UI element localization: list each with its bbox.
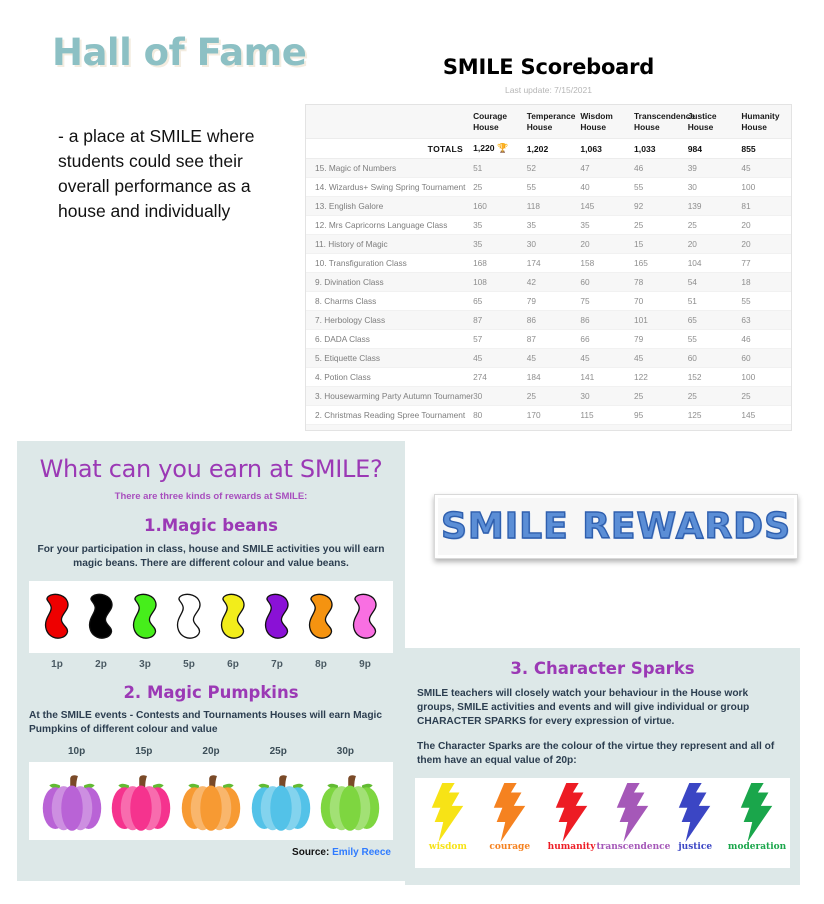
scoreboard-cell-value: 141 [580,368,634,387]
scoreboard-total-value: 1,202 [527,139,581,159]
scoreboard-cell-value: 81 [741,197,791,216]
scoreboard-cell-value: 35 [473,216,527,235]
scoreboard-total-value: 1,220 🏆 [473,139,527,159]
magic-pumpkins-heading: 2. Magic Pumpkins [17,683,405,702]
scoreboard-column-header: Temperance House [527,105,581,139]
character-spark-item: courage [481,782,539,852]
magic-beans-text: For your participation in class, house a… [31,543,391,571]
smile-rewards-banner: SMILE REWARDS [434,494,798,559]
table-row[interactable]: 1. Character Sparks020020400 [306,425,791,432]
rewards-panel: What can you earn at SMILE? There are th… [17,441,405,881]
magic-pumpkin-icon [251,770,311,832]
scoreboard-cell-value: 101 [634,311,688,330]
table-row[interactable]: 12. Mrs Capricorns Language Class3535352… [306,216,791,235]
scoreboard-total-value: 855 [741,139,791,159]
smile-rewards-banner-text: SMILE REWARDS [441,506,791,547]
scoreboard-cell-value: 80 [473,406,527,425]
character-sparks-heading: 3. Character Sparks [405,659,800,678]
magic-bean-icon [172,591,206,643]
scoreboard-table-container[interactable]: Courage HouseTemperance HouseWisdom Hous… [305,104,792,431]
table-row[interactable]: 4. Potion Class274184141122152100 [306,368,791,387]
lightning-bolt-icon [674,782,716,844]
lightning-bolt-icon [551,782,593,844]
smile-scoreboard: SMILE Scoreboard Last update: 7/15/2021 … [305,55,792,431]
scoreboard-cell-value: 25 [634,387,688,406]
magic-pumpkins-image [29,762,393,840]
scoreboard-cell-value: 20 [580,235,634,254]
scoreboard-cell-value: 125 [688,406,742,425]
character-spark-label: justice [678,842,712,852]
page-title: Hall of Fame [52,31,306,74]
scoreboard-cell-value: 55 [688,330,742,349]
scoreboard-cell-value: 165 [634,254,688,273]
scoreboard-cell-value: 30 [688,178,742,197]
scoreboard-cell-value: 139 [688,197,742,216]
character-sparks-paragraph-1: SMILE teachers will closely watch your b… [417,687,788,729]
scoreboard-cell-value: 87 [527,330,581,349]
scoreboard-cell-value: 25 [473,178,527,197]
rewards-title: What can you earn at SMILE? [17,455,405,483]
scoreboard-column-header: Courage House [473,105,527,139]
magic-beans-image [29,581,393,653]
scoreboard-cell-value: 18 [741,273,791,292]
scoreboard-row-name: 1. Character Sparks [306,425,473,432]
scoreboard-cell-value: 0 [473,425,527,432]
table-row[interactable]: 13. English Galore1601181459213981 [306,197,791,216]
scoreboard-row-name: 6. DADA Class [306,330,473,349]
scoreboard-row-name: 5. Etiquette Class [306,349,473,368]
scoreboard-cell-value: 35 [527,216,581,235]
lightning-bolt-icon [612,782,654,844]
scoreboard-cell-value: 25 [688,216,742,235]
magic-bean-icon [128,591,162,643]
scoreboard-cell-value: 65 [688,311,742,330]
scoreboard-cell-value: 30 [580,387,634,406]
hall-of-fame-description: - a place at SMILE where students could … [58,124,293,224]
scoreboard-cell-value: 20 [741,216,791,235]
scoreboard-cell-value: 174 [527,254,581,273]
scoreboard-cell-value: 42 [527,273,581,292]
scoreboard-header-row: Courage HouseTemperance HouseWisdom Hous… [306,105,791,139]
magic-bean-value-label: 9p [343,659,387,670]
lightning-bolt-icon [736,782,778,844]
table-row[interactable]: 14. Wizardus+ Swing Spring Tournament255… [306,178,791,197]
character-sparks-panel: 3. Character Sparks SMILE teachers will … [405,648,800,885]
scoreboard-cell-value: 170 [527,406,581,425]
scoreboard-cell-value: 158 [580,254,634,273]
scoreboard-cell-value: 55 [634,178,688,197]
character-spark-label: moderation [728,842,786,852]
table-row[interactable]: 6. DADA Class578766795546 [306,330,791,349]
magic-beans-heading: 1.Magic beans [17,516,405,535]
scoreboard-column-header: Wisdom House [580,105,634,139]
magic-pumpkin-icon [181,770,241,832]
scoreboard-cell-value: 60 [741,349,791,368]
magic-pumpkins-text: At the SMILE events - Contests and Tourn… [29,709,393,737]
character-spark-item: justice [666,782,724,852]
scoreboard-total-value: 1,033 [634,139,688,159]
character-spark-label: humanity [548,842,596,852]
table-row[interactable]: 3. Housewarming Party Autumn Tournament3… [306,387,791,406]
scoreboard-cell-value: 20 [634,425,688,432]
scoreboard-cell-value: 160 [473,197,527,216]
scoreboard-column-header: Justice House [688,105,742,139]
scoreboard-cell-value: 35 [473,235,527,254]
scoreboard-cell-value: 46 [741,330,791,349]
scoreboard-cell-value: 40 [688,425,742,432]
scoreboard-cell-value: 55 [741,292,791,311]
scoreboard-cell-value: 77 [741,254,791,273]
table-row[interactable]: 9. Divination Class1084260785418 [306,273,791,292]
scoreboard-cell-value: 66 [580,330,634,349]
magic-bean-value-label: 1p [35,659,79,670]
table-row[interactable]: 2. Christmas Reading Spree Tournament801… [306,406,791,425]
scoreboard-row-name: 10. Transfiguration Class [306,254,473,273]
magic-pumpkins-value-labels: 10p15p20p25p30p [43,746,379,757]
scoreboard-cell-value: 0 [580,425,634,432]
scoreboard-row-name: 2. Christmas Reading Spree Tournament [306,406,473,425]
magic-bean-icon [84,591,118,643]
scoreboard-cell-value: 25 [741,387,791,406]
scoreboard-cell-value: 75 [580,292,634,311]
magic-bean-value-label: 3p [123,659,167,670]
scoreboard-cell-value: 45 [741,159,791,178]
scoreboard-cell-value: 51 [688,292,742,311]
scoreboard-table: Courage HouseTemperance HouseWisdom Hous… [306,105,791,431]
scoreboard-cell-value: 95 [634,406,688,425]
character-sparks-image: wisdomcouragehumanitytranscendencejustic… [415,778,790,868]
magic-pumpkin-value-label: 15p [110,746,177,757]
scoreboard-column-header: Transcendence House [634,105,688,139]
scoreboard-totals-row: TOTALS1,220 🏆1,2021,0631,033984855 [306,139,791,159]
scoreboard-cell-value: 79 [634,330,688,349]
magic-bean-icon [304,591,338,643]
magic-pumpkin-value-label: 25p [245,746,312,757]
magic-bean-icon [216,591,250,643]
scoreboard-cell-value: 20 [688,235,742,254]
scoreboard-cell-value: 45 [473,349,527,368]
scoreboard-cell-value: 55 [527,178,581,197]
scoreboard-cell-value: 54 [688,273,742,292]
scoreboard-row-name: 7. Herbology Class [306,311,473,330]
scoreboard-title: SMILE Scoreboard [305,55,792,79]
scoreboard-cell-value: 70 [634,292,688,311]
scoreboard-total-value: 984 [688,139,742,159]
scoreboard-cell-value: 78 [634,273,688,292]
scoreboard-cell-value: 86 [580,311,634,330]
character-spark-item: moderation [728,782,786,852]
scoreboard-row-name: 4. Potion Class [306,368,473,387]
scoreboard-cell-value: 152 [688,368,742,387]
scoreboard-cell-value: 45 [527,349,581,368]
scoreboard-cell-value: 65 [473,292,527,311]
magic-pumpkin-icon [111,770,171,832]
scoreboard-row-name: 14. Wizardus+ Swing Spring Tournament [306,178,473,197]
rewards-subtitle: There are three kinds of rewards at SMIL… [17,491,405,502]
scoreboard-cell-value: 118 [527,197,581,216]
source-label: Source: [292,847,329,858]
scoreboard-cell-value: 274 [473,368,527,387]
scoreboard-cell-value: 20 [527,425,581,432]
scoreboard-column-header: Humanity House [741,105,791,139]
source-credit: Source: Emily Reece [17,847,391,858]
magic-bean-value-label: 5p [167,659,211,670]
character-spark-item: wisdom [419,782,477,852]
scoreboard-cell-value: 30 [527,235,581,254]
scoreboard-cell-value: 115 [580,406,634,425]
scoreboard-cell-value: 52 [527,159,581,178]
scoreboard-cell-value: 25 [634,216,688,235]
scoreboard-column-header [306,105,473,139]
scoreboard-cell-value: 63 [741,311,791,330]
magic-bean-icon [260,591,294,643]
table-row[interactable]: 7. Herbology Class8786861016563 [306,311,791,330]
scoreboard-cell-value: 40 [580,178,634,197]
scoreboard-row-name: 9. Divination Class [306,273,473,292]
scoreboard-row-name: 12. Mrs Capricorns Language Class [306,216,473,235]
scoreboard-row-name: 11. History of Magic [306,235,473,254]
magic-pumpkin-value-label: 10p [43,746,110,757]
scoreboard-body: TOTALS1,220 🏆1,2021,0631,03398485515. Ma… [306,139,791,432]
magic-pumpkin-value-label: 30p [312,746,379,757]
scoreboard-cell-value: 168 [473,254,527,273]
lightning-bolt-icon [489,782,531,844]
scoreboard-cell-value: 122 [634,368,688,387]
magic-beans-value-labels: 1p2p3p5p6p7p8p9p [29,659,393,670]
magic-bean-value-label: 6p [211,659,255,670]
magic-pumpkin-value-label: 20p [177,746,244,757]
scoreboard-row-name: 15. Magic of Numbers [306,159,473,178]
scoreboard-cell-value: 46 [634,159,688,178]
table-row[interactable]: 5. Etiquette Class454545456060 [306,349,791,368]
scoreboard-cell-value: 35 [580,216,634,235]
scoreboard-cell-value: 92 [634,197,688,216]
scoreboard-cell-value: 25 [688,387,742,406]
character-spark-item: transcendence [604,782,662,852]
magic-bean-value-label: 7p [255,659,299,670]
magic-bean-value-label: 8p [299,659,343,670]
scoreboard-cell-value: 25 [527,387,581,406]
scoreboard-cell-value: 104 [688,254,742,273]
magic-pumpkin-icon [42,770,102,832]
source-link[interactable]: Emily Reece [332,847,391,858]
scoreboard-cell-value: 0 [741,425,791,432]
table-row[interactable]: 10. Transfiguration Class168174158165104… [306,254,791,273]
scoreboard-cell-value: 87 [473,311,527,330]
scoreboard-cell-value: 51 [473,159,527,178]
scoreboard-row-name: 13. English Galore [306,197,473,216]
scoreboard-cell-value: 108 [473,273,527,292]
table-row[interactable]: 8. Charms Class657975705155 [306,292,791,311]
scoreboard-last-update: Last update: 7/15/2021 [305,85,792,95]
character-spark-label: transcendence [596,842,670,852]
scoreboard-total-value: 1,063 [580,139,634,159]
table-row[interactable]: 11. History of Magic353020152020 [306,235,791,254]
scoreboard-row-name: 8. Charms Class [306,292,473,311]
character-spark-label: courage [489,842,530,852]
scoreboard-row-name: 3. Housewarming Party Autumn Tournament [306,387,473,406]
magic-bean-icon [40,591,74,643]
scoreboard-cell-value: 145 [580,197,634,216]
scoreboard-cell-value: 79 [527,292,581,311]
scoreboard-cell-value: 100 [741,368,791,387]
scoreboard-cell-value: 57 [473,330,527,349]
scoreboard-cell-value: 15 [634,235,688,254]
magic-bean-icon [348,591,382,643]
scoreboard-totals-label: TOTALS [306,139,473,159]
scoreboard-cell-value: 39 [688,159,742,178]
scoreboard-cell-value: 20 [741,235,791,254]
scoreboard-cell-value: 100 [741,178,791,197]
scoreboard-cell-value: 45 [634,349,688,368]
scoreboard-cell-value: 86 [527,311,581,330]
lightning-bolt-icon [427,782,469,844]
scoreboard-cell-value: 45 [580,349,634,368]
scoreboard-cell-value: 60 [688,349,742,368]
scoreboard-cell-value: 30 [473,387,527,406]
scoreboard-cell-value: 47 [580,159,634,178]
magic-pumpkin-icon [320,770,380,832]
character-spark-label: wisdom [429,842,467,852]
character-sparks-paragraph-2: The Character Sparks are the colour of t… [417,740,788,768]
trophy-icon: 🏆 [495,143,509,153]
table-row[interactable]: 15. Magic of Numbers515247463945 [306,159,791,178]
scoreboard-cell-value: 60 [580,273,634,292]
scoreboard-cell-value: 184 [527,368,581,387]
character-spark-item: humanity [543,782,601,852]
magic-bean-value-label: 2p [79,659,123,670]
scoreboard-cell-value: 145 [741,406,791,425]
